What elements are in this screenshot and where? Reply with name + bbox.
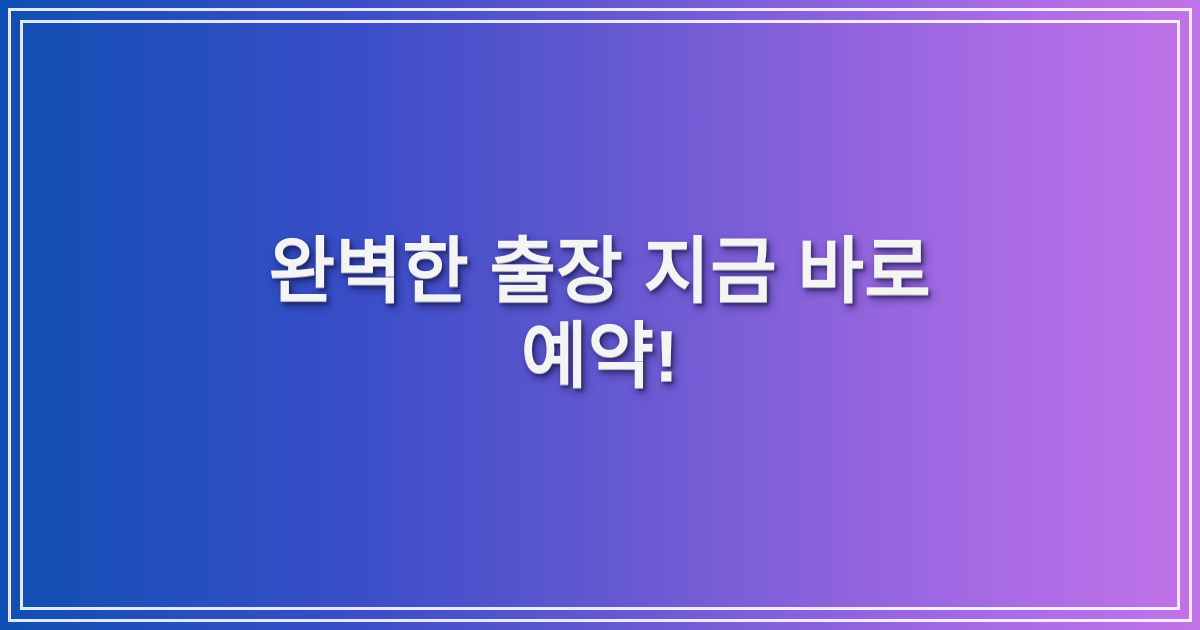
banner-content: 완벽한 출장 지금 바로 예약! [0, 0, 1200, 630]
headline-text: 완벽한 출장 지금 바로 예약! [240, 230, 960, 400]
promo-banner: 완벽한 출장 지금 바로 예약! [0, 0, 1200, 630]
